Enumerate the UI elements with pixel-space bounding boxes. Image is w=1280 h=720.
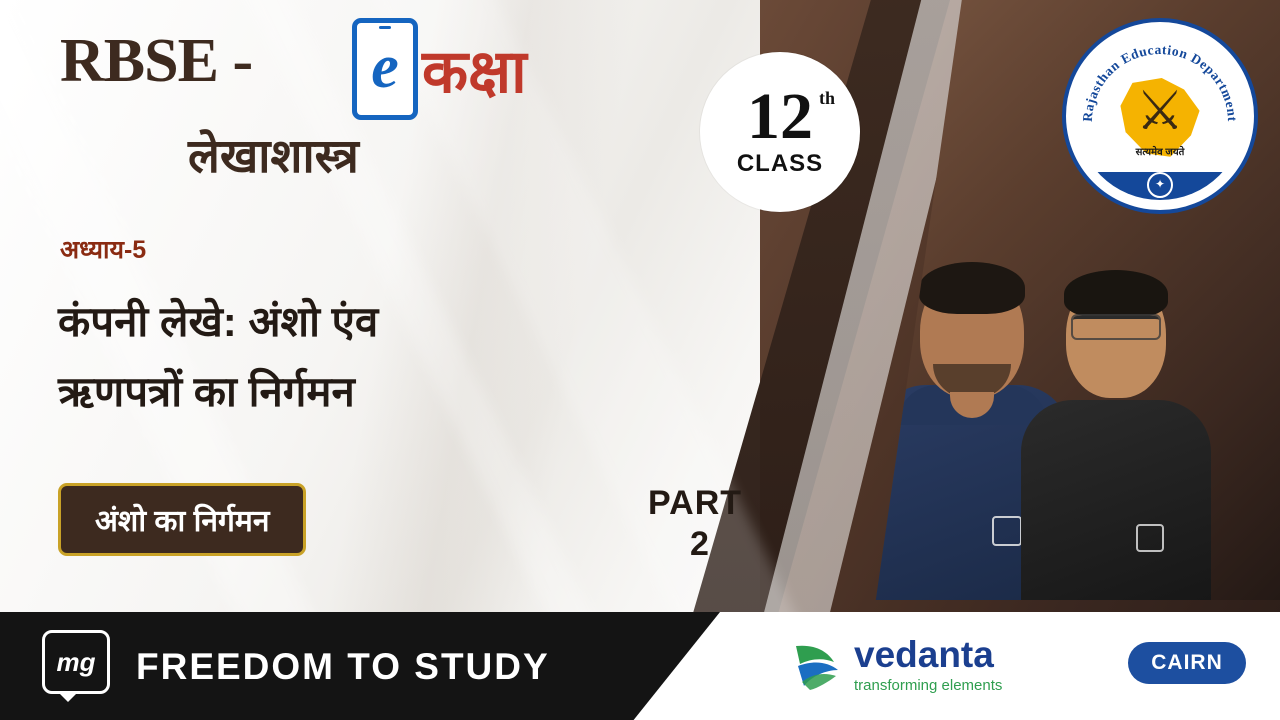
part-label: PART — [648, 484, 742, 523]
cairn-wordmark: CAIRN — [1151, 651, 1223, 675]
vedanta-subtext: transforming elements — [854, 677, 1002, 694]
chapter-title-line1: कंपनी लेखे: अंशो एंव — [58, 292, 378, 349]
class-word: CLASS — [737, 150, 823, 178]
chapter-label: अध्याय-5 — [60, 232, 146, 266]
phone-icon: e — [352, 18, 418, 120]
footer-bar: mg FREEDOM TO STUDY vedanta transforming… — [0, 612, 1280, 720]
ashoka-lion-icon: ⚔ — [1136, 84, 1184, 138]
topic-badge: अंशो का निर्गमन — [58, 483, 306, 556]
rajasthan-education-department-emblem: Rajasthan Education Department ⚔ सत्यमेव… — [1062, 18, 1258, 214]
class-number: 12 — [747, 80, 813, 153]
phone-speaker-icon — [379, 26, 391, 29]
part-number: 2 — [690, 525, 709, 564]
vedanta-mark-icon — [790, 636, 846, 692]
page-title-rbse: RBSE - — [60, 26, 252, 97]
sponsor-vedanta: vedanta transforming elements — [790, 636, 1002, 694]
sponsor-cairn: CAIRN — [1128, 642, 1246, 684]
kaksha-label: कक्षा — [422, 28, 527, 110]
magnet-brains-logo: mg — [42, 630, 110, 694]
vedanta-wordmark: vedanta — [854, 636, 1002, 673]
mg-logo-text: mg — [57, 647, 96, 678]
e-letter: e — [371, 36, 399, 98]
emblem-seal-icon: ✦ — [1147, 172, 1173, 198]
subject-label: लेखाशास्त्र — [188, 122, 359, 186]
chapter-title-line2: ऋणपत्रों का निर्गमन — [58, 362, 355, 419]
slide-canvas: Rajasthan Education Department ⚔ सत्यमेव… — [0, 0, 1280, 720]
class-ordinal: th — [819, 90, 835, 107]
emblem-motto: सत्यमेव जयते — [1136, 144, 1185, 158]
footer-tagline: FREEDOM TO STUDY — [136, 646, 550, 688]
e-kaksha-logo: e कक्षा — [352, 18, 527, 120]
instructor-right — [1018, 270, 1213, 600]
class-badge: 12 th CLASS — [700, 52, 860, 212]
